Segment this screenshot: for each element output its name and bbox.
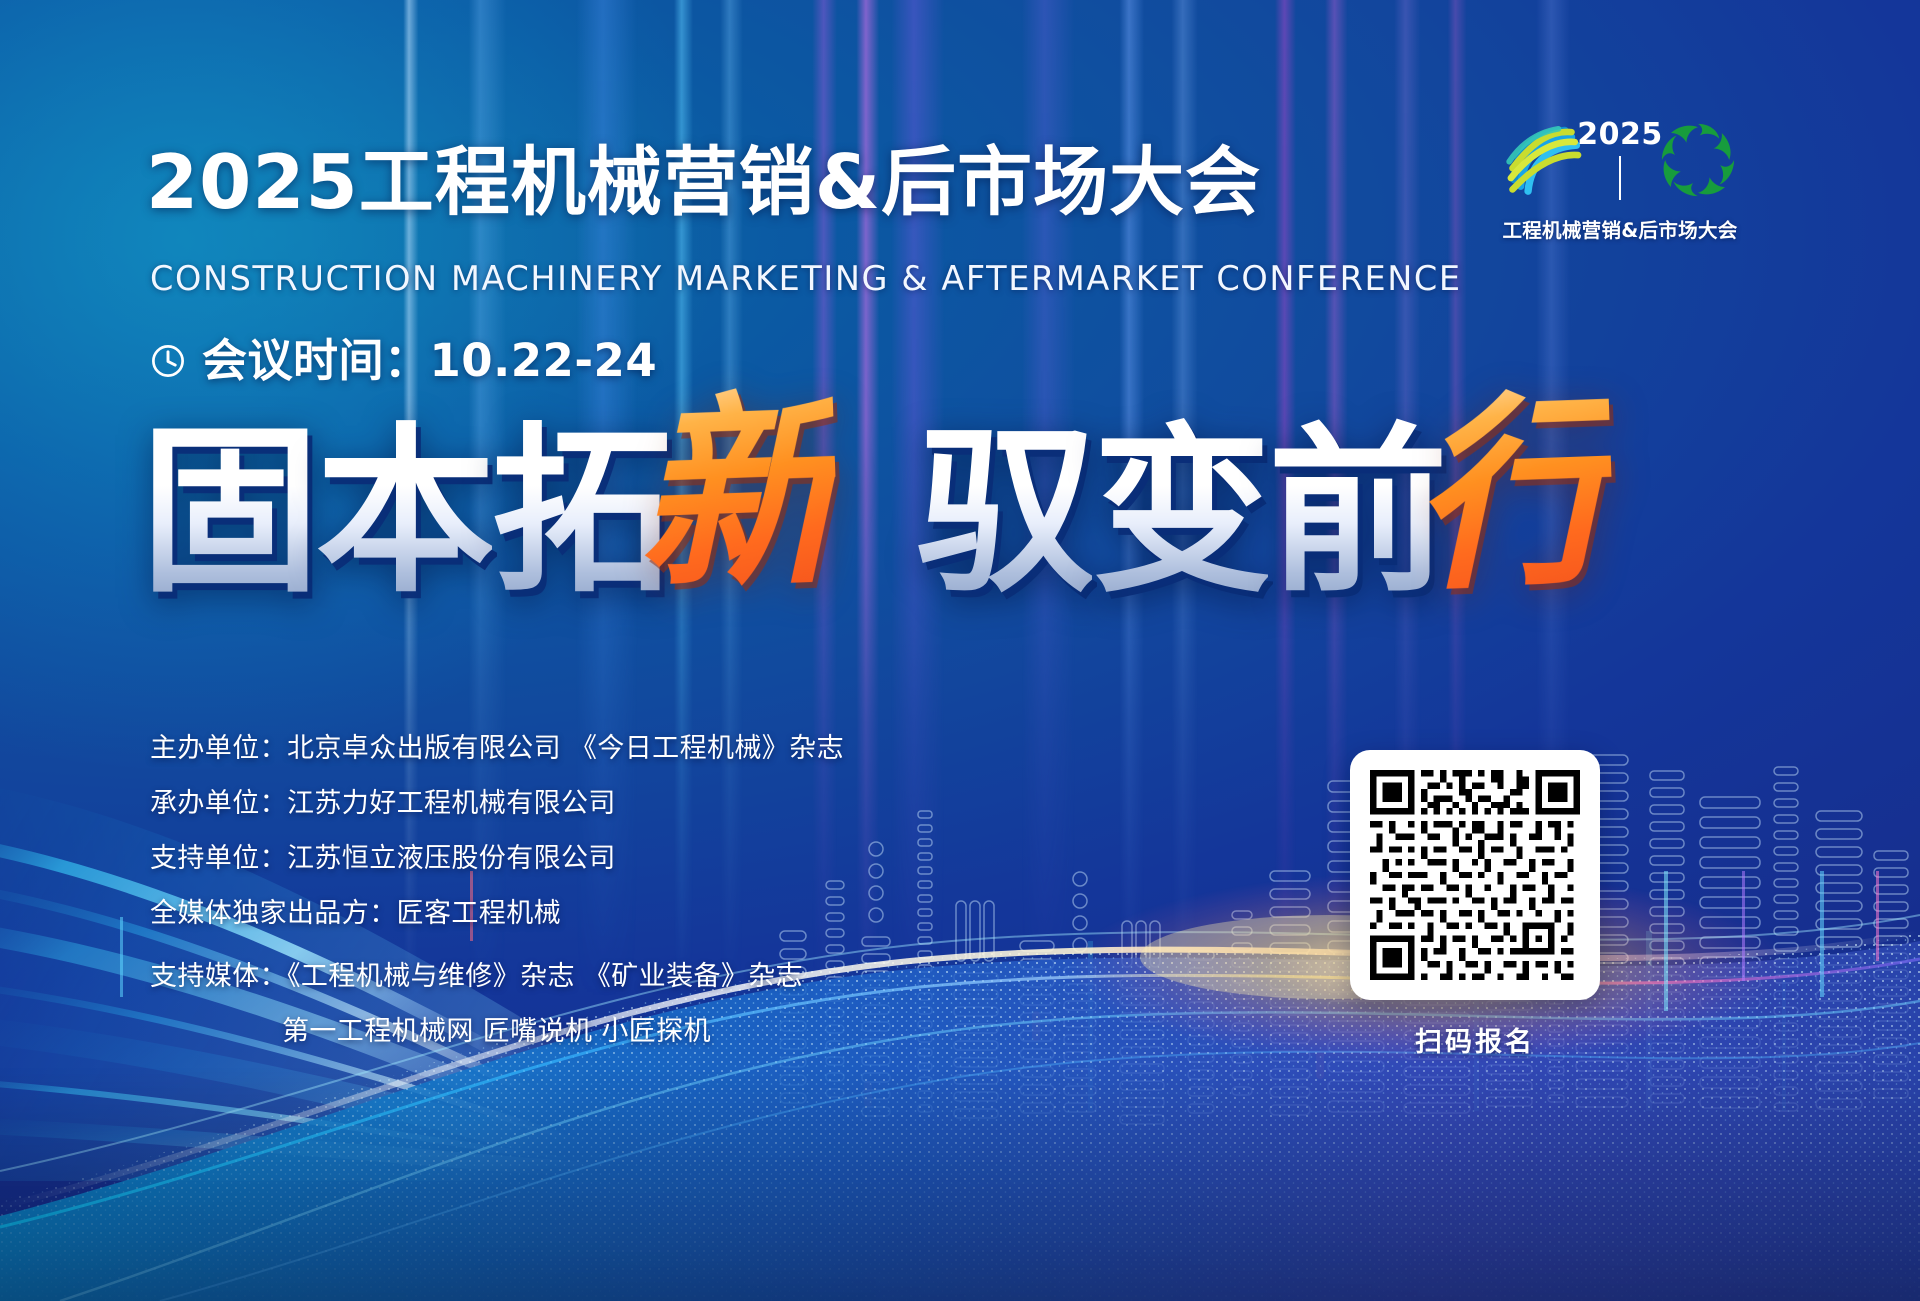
slogan-char: 变 — [1092, 418, 1268, 607]
slogan-char: 驭 — [916, 418, 1092, 607]
logo-year: 2025 — [1577, 120, 1663, 150]
qr-caption: 扫码报名 — [1350, 1020, 1600, 1059]
woven-ribbon-icon — [1501, 119, 1583, 201]
slogan-left-group: 固 本 拓 新 — [140, 418, 836, 607]
conference-date-text: 会议时间：10.22-24 — [202, 338, 657, 383]
qr-code-card[interactable] — [1350, 750, 1600, 1000]
slogan: 固 本 拓 新 驭 变 前 行 — [140, 418, 1612, 607]
credit-line-producer: 全媒体独家出品方：匠客工程机械 — [150, 900, 844, 927]
qr-registration-block[interactable]: 扫码报名 — [1350, 750, 1600, 1059]
logo-year-block: 2025 — [1593, 120, 1647, 200]
credit-line-organizer: 主办单位：北京卓众出版有限公司 《今日工程机械》杂志 — [150, 735, 844, 762]
credit-line-media: 支持媒体：《工程机械与维修》杂志 《矿业装备》杂志 — [150, 963, 844, 990]
qr-code-icon[interactable] — [1370, 770, 1580, 980]
green-circle-icon — [1657, 119, 1739, 201]
conference-date: 会议时间：10.22-24 — [150, 338, 657, 383]
clock-icon — [150, 343, 186, 379]
slogan-accent-char: 行 — [1408, 383, 1615, 606]
slogan-accent-char: 新 — [632, 383, 839, 606]
logo-divider — [1619, 156, 1621, 200]
page-subtitle-english: CONSTRUCTION MACHINERY MARKETING & AFTER… — [150, 262, 1462, 296]
credit-line-media-continued: 第一工程机械网 匠嘴说机 小匠探机 — [282, 1018, 844, 1045]
slogan-char: 本 — [316, 418, 492, 607]
conference-logo: 2025 工程机械营销& — [1492, 112, 1748, 243]
conference-poster: 2025工程机械营销&后市场大会 CONSTRUCTION MACHINERY … — [0, 0, 1920, 1301]
poster-content: 2025工程机械营销&后市场大会 CONSTRUCTION MACHINERY … — [0, 0, 1920, 1301]
slogan-char: 固 — [140, 418, 316, 607]
credit-line-co-organizer: 承办单位：江苏力好工程机械有限公司 — [150, 790, 844, 817]
credit-line-supporter: 支持单位：江苏恒立液压股份有限公司 — [150, 845, 844, 872]
page-title: 2025工程机械营销&后市场大会 — [146, 145, 1261, 220]
logo-marks-row: 2025 — [1492, 112, 1748, 208]
logo-name: 工程机械营销&后市场大会 — [1492, 214, 1748, 243]
slogan-right-group: 驭 变 前 行 — [916, 418, 1612, 607]
credits-block: 主办单位：北京卓众出版有限公司 《今日工程机械》杂志 承办单位：江苏力好工程机械… — [150, 735, 844, 1073]
